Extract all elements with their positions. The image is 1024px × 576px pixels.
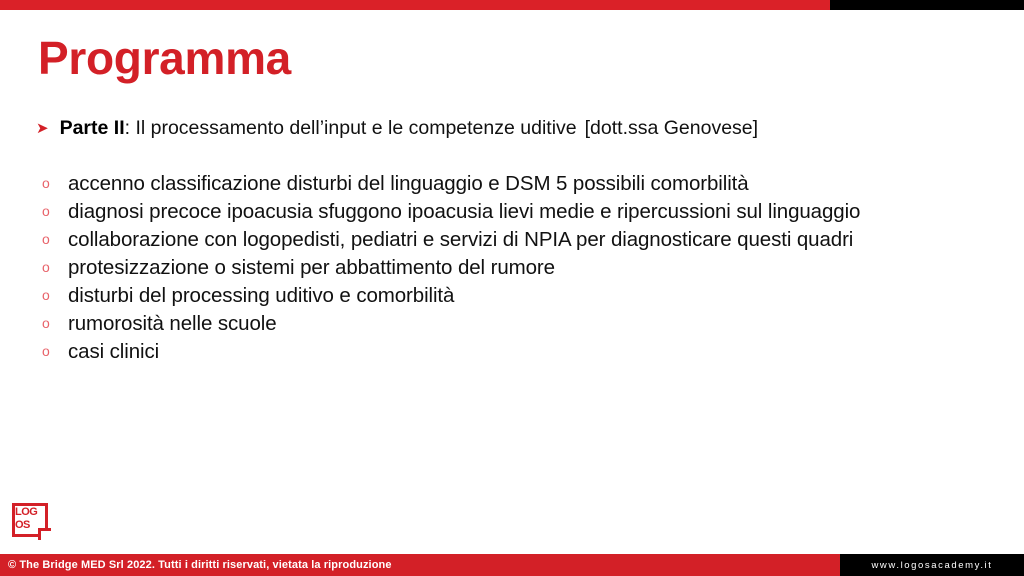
list-item-label: rumorosità nelle scuole (68, 310, 1001, 337)
arrow-bullet-icon: ➤ (36, 121, 49, 136)
circle-bullet-icon: o (36, 282, 68, 309)
circle-bullet-icon: o (36, 198, 68, 225)
circle-bullet-icon: o (36, 226, 68, 253)
list-item-label: accenno classificazione disturbi del lin… (68, 170, 1001, 197)
list-item-label: casi clinici (68, 338, 1001, 365)
list-item-label: collaborazione con logopedisti, pediatri… (68, 226, 1001, 253)
footer-bar: © The Bridge MED Srl 2022. Tutti i dirit… (0, 554, 1024, 576)
page-title: Programma (38, 34, 291, 82)
list-item: o collaborazione con logopedisti, pediat… (36, 226, 1001, 253)
slide-root: Programma ➤ Parte II : Il processamento … (0, 0, 1024, 576)
bullet-list: o accenno classificazione disturbi del l… (36, 170, 1001, 366)
top-accent-bar-red (0, 0, 830, 10)
list-item-label: diagnosi precoce ipoacusia sfuggono ipoa… (68, 198, 1001, 225)
circle-bullet-icon: o (36, 338, 68, 365)
section-heading-rest: : Il processamento dell’input e le compe… (125, 115, 577, 141)
list-item: o disturbi del processing uditivo e como… (36, 282, 1001, 309)
top-accent-bar (0, 0, 1024, 10)
logo-text-line1: LOG (15, 506, 45, 519)
footer-website[interactable]: www.logosacademy.it (840, 554, 1024, 576)
section-heading-strong: Parte II (60, 115, 125, 141)
list-item: o accenno classificazione disturbi del l… (36, 170, 1001, 197)
list-item-label: disturbi del processing uditivo e comorb… (68, 282, 1001, 309)
circle-bullet-icon: o (36, 254, 68, 281)
list-item: o diagnosi precoce ipoacusia sfuggono ip… (36, 198, 1001, 225)
circle-bullet-icon: o (36, 310, 68, 337)
list-item-label: protesizzazione o sistemi per abbattimen… (68, 254, 1001, 281)
top-accent-bar-black (830, 0, 1024, 10)
section-heading: ➤ Parte II : Il processamento dell’input… (36, 115, 996, 141)
section-heading-speaker: [dott.ssa Genovese] (585, 115, 758, 141)
footer-copyright: © The Bridge MED Srl 2022. Tutti i dirit… (0, 554, 840, 576)
circle-bullet-icon: o (36, 170, 68, 197)
list-item: o protesizzazione o sistemi per abbattim… (36, 254, 1001, 281)
list-item: o rumorosità nelle scuole (36, 310, 1001, 337)
logo-corner-notch (38, 528, 51, 540)
logos-logo: LOG OS (12, 503, 48, 537)
list-item: o casi clinici (36, 338, 1001, 365)
